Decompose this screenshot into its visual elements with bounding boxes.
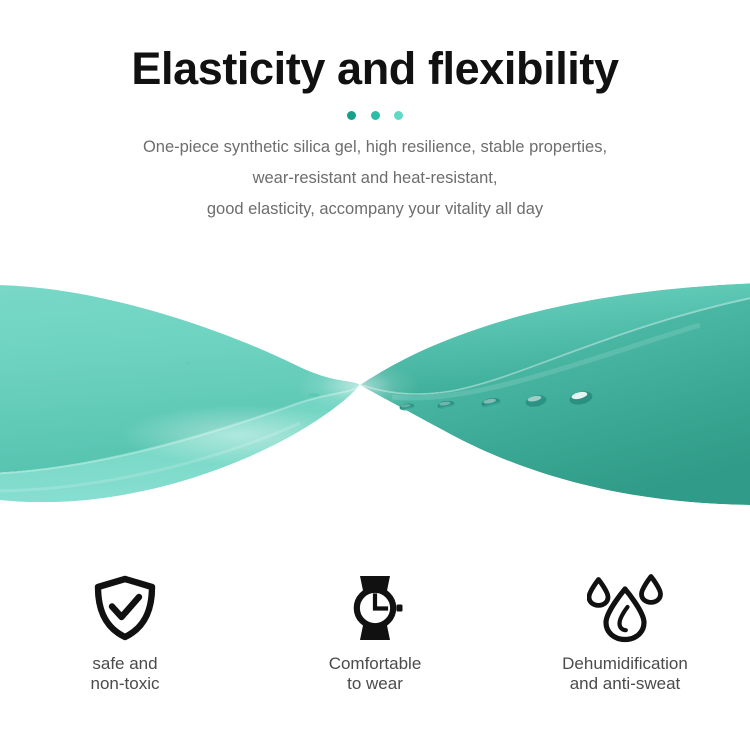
shield-check-icon [90,573,160,643]
divider-dot-3 [394,111,403,120]
feature-label-line-2: non-toxic [91,674,160,694]
feature-dehumidification: Dehumidification and anti-sweat [500,572,750,707]
page-title: Elasticity and flexibility [0,0,750,94]
feature-icon-wrapper [340,572,410,644]
feature-comfortable-to-wear: Comfortable to wear [250,572,500,707]
feature-icon-wrapper [587,572,663,644]
feature-icon-wrapper [90,572,160,644]
feature-label-line-1: Comfortable [329,654,422,674]
divider-dot-2 [371,111,380,120]
dot-divider [347,110,403,120]
marketing-page: Elasticity and flexibility One-piece syn… [0,0,750,750]
surface-speck-1 [185,362,191,365]
twisted-band-illustration [0,255,750,545]
water-droplets-icon [587,573,663,643]
product-image [0,255,750,545]
feature-label-line-2: and anti-sweat [562,674,688,694]
wristwatch-icon [340,573,410,643]
feature-label-line-1: safe and [91,654,160,674]
feature-label: Dehumidification and anti-sweat [562,654,688,694]
subheading-line-3: good elasticity, accompany your vitality… [65,194,685,225]
surface-speck-2 [176,406,180,408]
feature-safe-non-toxic: safe and non-toxic [0,572,250,707]
surface-speck-3 [308,393,320,397]
feature-label: Comfortable to wear [329,654,422,694]
feature-label-line-2: to wear [329,674,422,694]
divider-dot-1 [347,111,356,120]
feature-label-line-1: Dehumidification [562,654,688,674]
header-block: Elasticity and flexibility One-piece syn… [0,0,750,225]
subheading-line-2: wear-resistant and heat-resistant, [65,163,685,194]
feature-label: safe and non-toxic [91,654,160,694]
subheading-copy: One-piece synthetic silica gel, high res… [65,132,685,225]
subheading-line-1: One-piece synthetic silica gel, high res… [65,132,685,163]
feature-row: safe and non-toxic [0,572,750,707]
